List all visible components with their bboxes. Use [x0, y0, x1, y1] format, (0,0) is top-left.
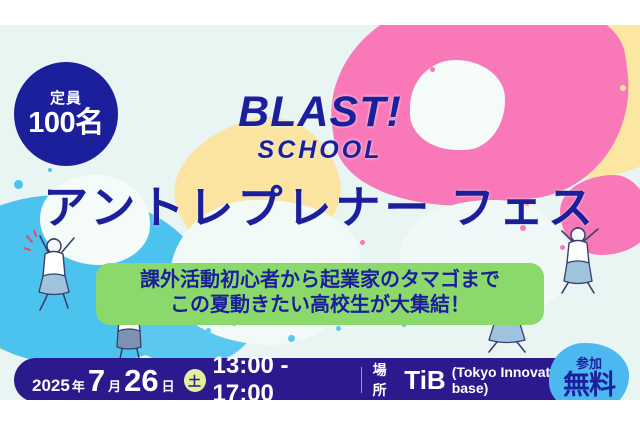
student-illustration-left-upper: [24, 230, 86, 316]
date-group: 2025 年 7 月 26 日: [14, 365, 177, 396]
day-of-week-chip: 土: [184, 369, 206, 392]
capacity-label: 定員: [50, 91, 82, 106]
date-month: 7: [88, 365, 105, 396]
venue-short-name: TiB: [404, 365, 445, 396]
poster-stage: 定員 100名 BLAST! SCHOOL アントレプレナー フェス 課外活動初…: [0, 25, 640, 400]
free-badge-main-text: 無料: [563, 372, 615, 399]
capacity-value: 100名: [28, 109, 103, 138]
droplet: [360, 240, 365, 245]
droplet: [470, 155, 477, 162]
event-time: 13:00 - 17:00: [213, 352, 350, 400]
capacity-badge: 定員 100名: [14, 62, 118, 166]
droplet: [592, 120, 596, 124]
date-year: 2025: [32, 376, 70, 396]
date-month-unit: 月: [108, 376, 121, 395]
droplet: [336, 326, 341, 331]
free-entry-badge: 参加 無料: [549, 343, 629, 400]
subtitle-line-2: この夏動きたい高校生が大集結！: [96, 293, 544, 318]
droplet: [430, 67, 435, 72]
droplet: [606, 143, 612, 149]
subtitle-banner: 課外活動初心者から起業家のタマゴまで この夏動きたい高校生が大集結！: [96, 263, 544, 325]
date-day: 26: [124, 365, 158, 396]
bar-divider: [361, 367, 362, 393]
event-poster: 定員 100名 BLAST! SCHOOL アントレプレナー フェス 課外活動初…: [0, 0, 640, 426]
date-venue-bar: 2025 年 7 月 26 日 土 13:00 - 17:00 場所 TiB (…: [14, 358, 604, 400]
venue-label: 場所: [373, 360, 400, 400]
logo-sub-text: SCHOOL: [205, 138, 435, 163]
date-year-unit: 年: [72, 376, 85, 395]
free-badge-top-text: 参加: [576, 357, 602, 370]
logo-brand-text: BLAST!: [205, 91, 435, 134]
bottom-letterbox: [0, 400, 640, 426]
event-logo: BLAST! SCHOOL: [205, 91, 435, 163]
droplet: [288, 335, 295, 342]
page-title: アントレプレナー フェス: [0, 185, 640, 230]
yellow-splatter-topright: [454, 25, 640, 200]
date-day-unit: 日: [162, 376, 175, 395]
subtitle-line-1: 課外活動初心者から起業家のタマゴまで: [96, 268, 544, 293]
droplet: [48, 168, 52, 172]
droplet: [620, 85, 626, 91]
top-letterbox: [0, 0, 640, 25]
droplet: [206, 328, 211, 333]
